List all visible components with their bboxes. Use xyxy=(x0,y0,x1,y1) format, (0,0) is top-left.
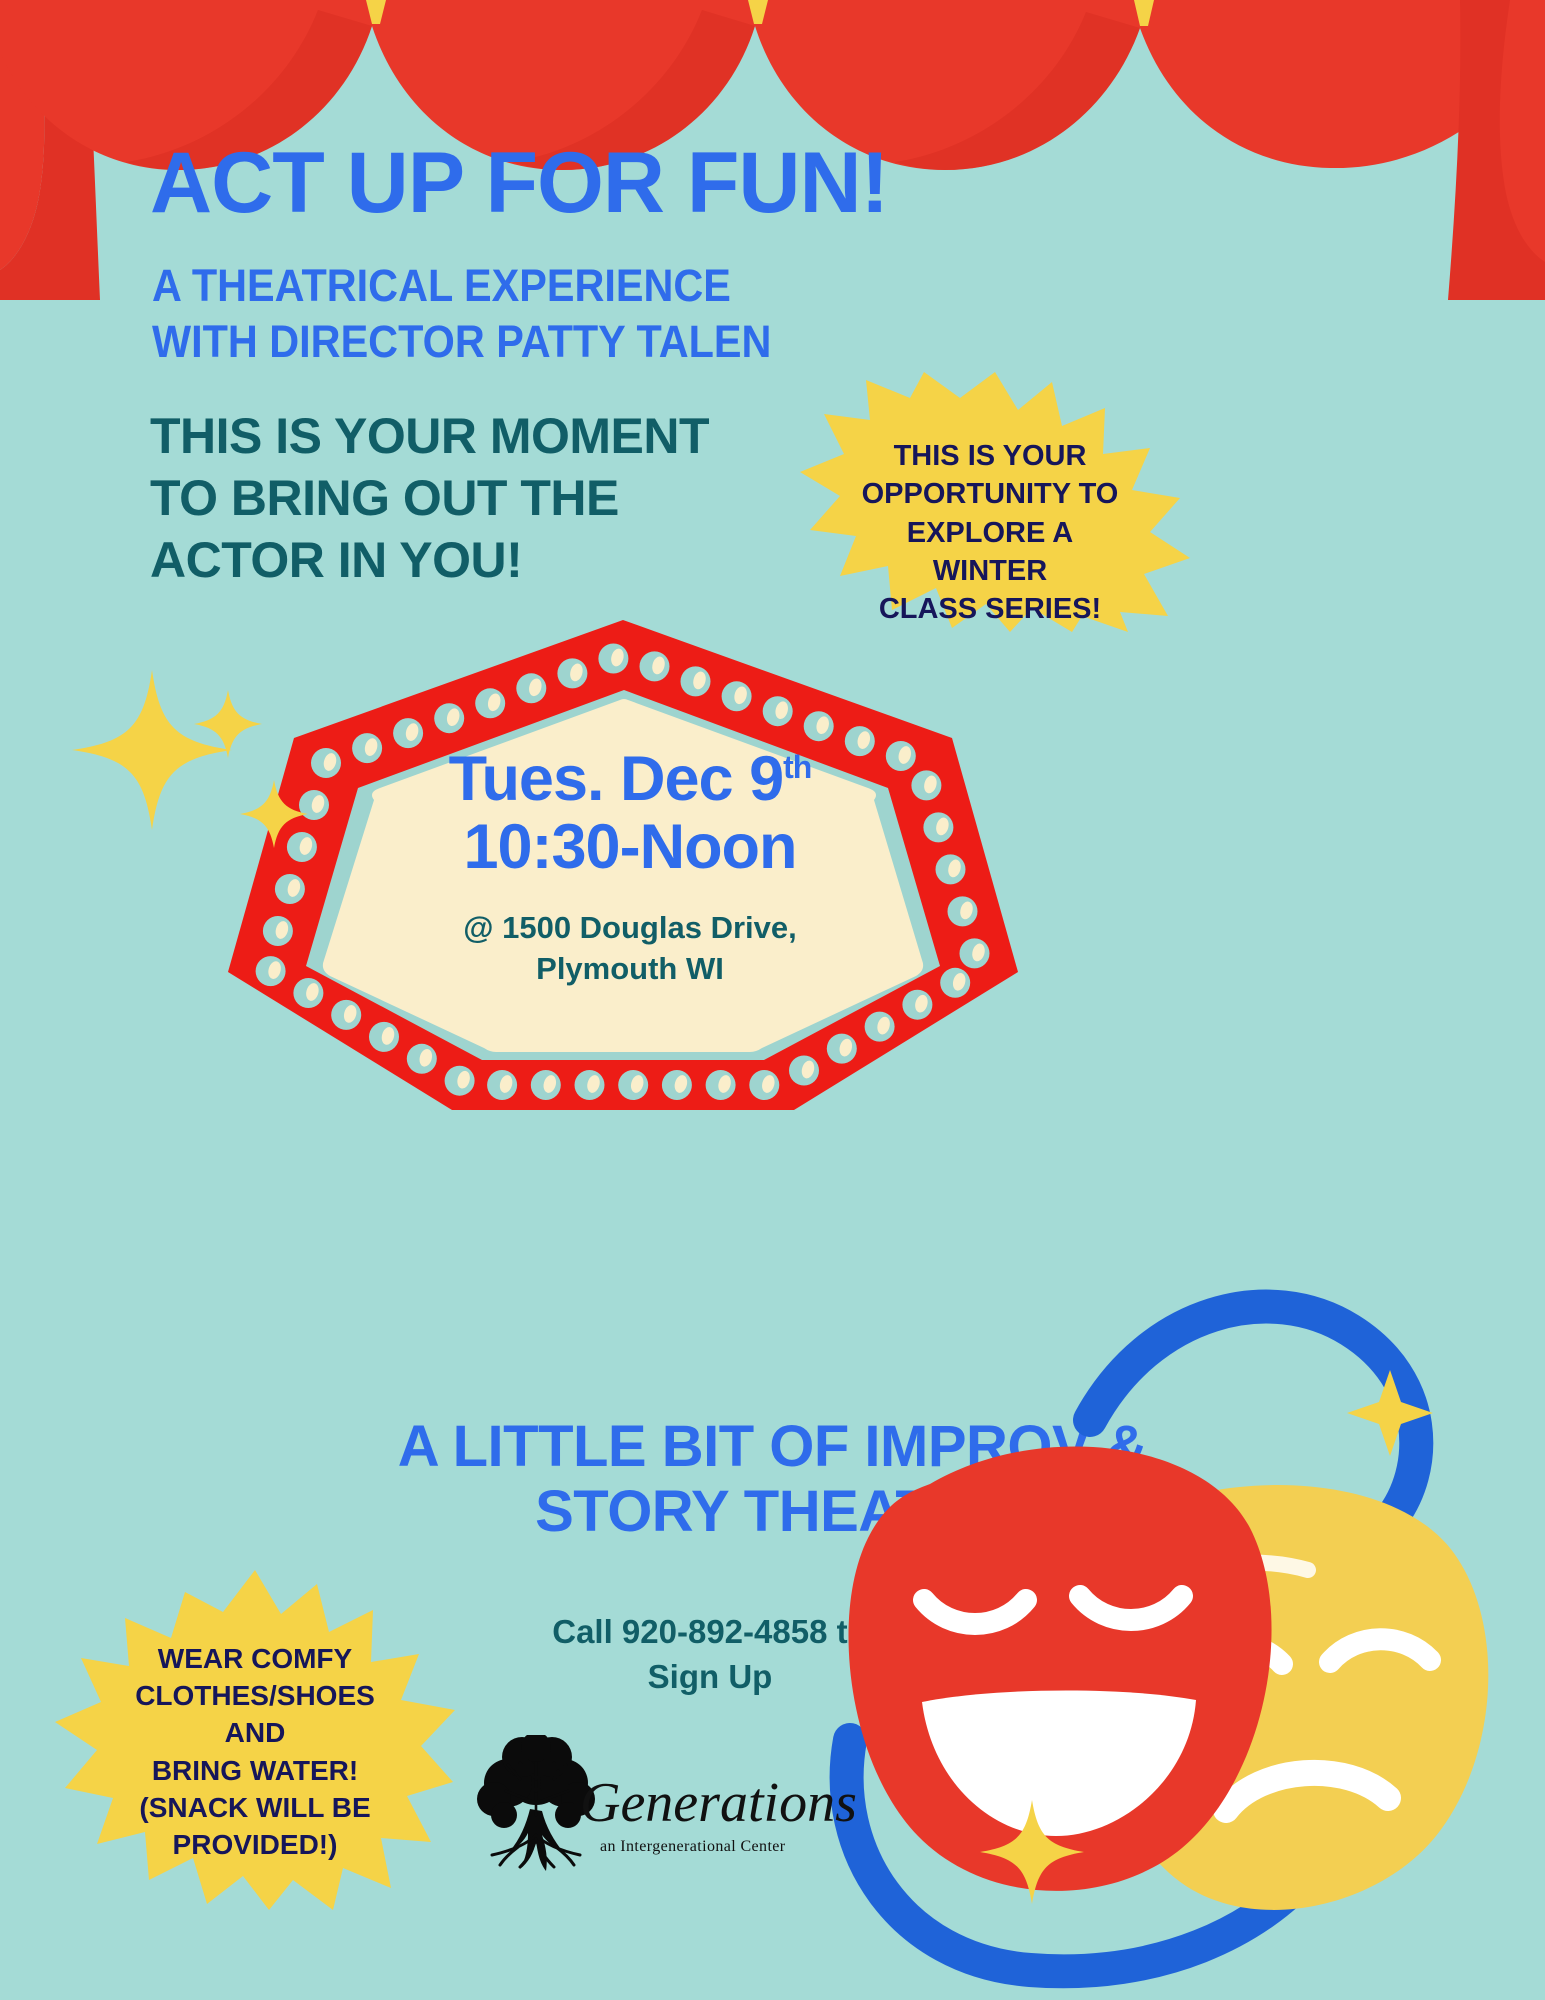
burst-top-line-1: THIS IS YOUR xyxy=(855,437,1125,475)
sparkle-star-icon xyxy=(72,670,232,830)
event-address: @ 1500 Douglas Drive, Plymouth WI xyxy=(300,908,960,990)
page-title: ACT UP FOR FUN! xyxy=(150,140,888,226)
poster-canvas: ACT UP FOR FUN! A THEATRICAL EXPERIENCE … xyxy=(0,0,1545,2000)
burst-bottom-line-5: PROVIDED!) xyxy=(120,1826,390,1863)
burst-bottom-line-1: WEAR COMFY xyxy=(120,1640,390,1677)
event-date: Tues. Dec 9th 10:30-Noon xyxy=(300,745,960,881)
comedy-tragedy-masks-icon xyxy=(790,1270,1545,2000)
event-time: 10:30-Noon xyxy=(300,813,960,881)
starburst-top-text: THIS IS YOUR OPPORTUNITY TO EXPLORE A WI… xyxy=(855,437,1125,628)
moment-line-3: ACTOR IN YOU! xyxy=(150,529,709,591)
burst-top-line-2: OPPORTUNITY TO xyxy=(855,475,1125,513)
moment-line-1: THIS IS YOUR MOMENT xyxy=(150,405,709,467)
event-date-ordinal: th xyxy=(783,749,811,785)
moment-headline: THIS IS YOUR MOMENT TO BRING OUT THE ACT… xyxy=(150,405,709,591)
address-line-2: Plymouth WI xyxy=(300,949,960,990)
subtitle-line-2: WITH DIRECTOR PATTY TALEN xyxy=(152,314,771,370)
address-line-1: @ 1500 Douglas Drive, xyxy=(300,908,960,949)
subtitle-line-1: A THEATRICAL EXPERIENCE xyxy=(152,258,771,314)
burst-bottom-line-3: BRING WATER! xyxy=(120,1752,390,1789)
burst-bottom-line-4: (SNACK WILL BE xyxy=(120,1789,390,1826)
moment-line-2: TO BRING OUT THE xyxy=(150,467,709,529)
burst-top-line-3: EXPLORE A WINTER xyxy=(855,514,1125,591)
subtitle: A THEATRICAL EXPERIENCE WITH DIRECTOR PA… xyxy=(152,258,771,371)
logo-wordmark: Generations xyxy=(580,1775,857,1831)
burst-bottom-line-2: CLOTHES/SHOES AND xyxy=(120,1677,390,1751)
logo-tagline: an Intergenerational Center xyxy=(600,1838,786,1856)
event-date-main: Tues. Dec 9 xyxy=(449,744,784,814)
starburst-bottom-text: WEAR COMFY CLOTHES/SHOES AND BRING WATER… xyxy=(120,1640,390,1863)
